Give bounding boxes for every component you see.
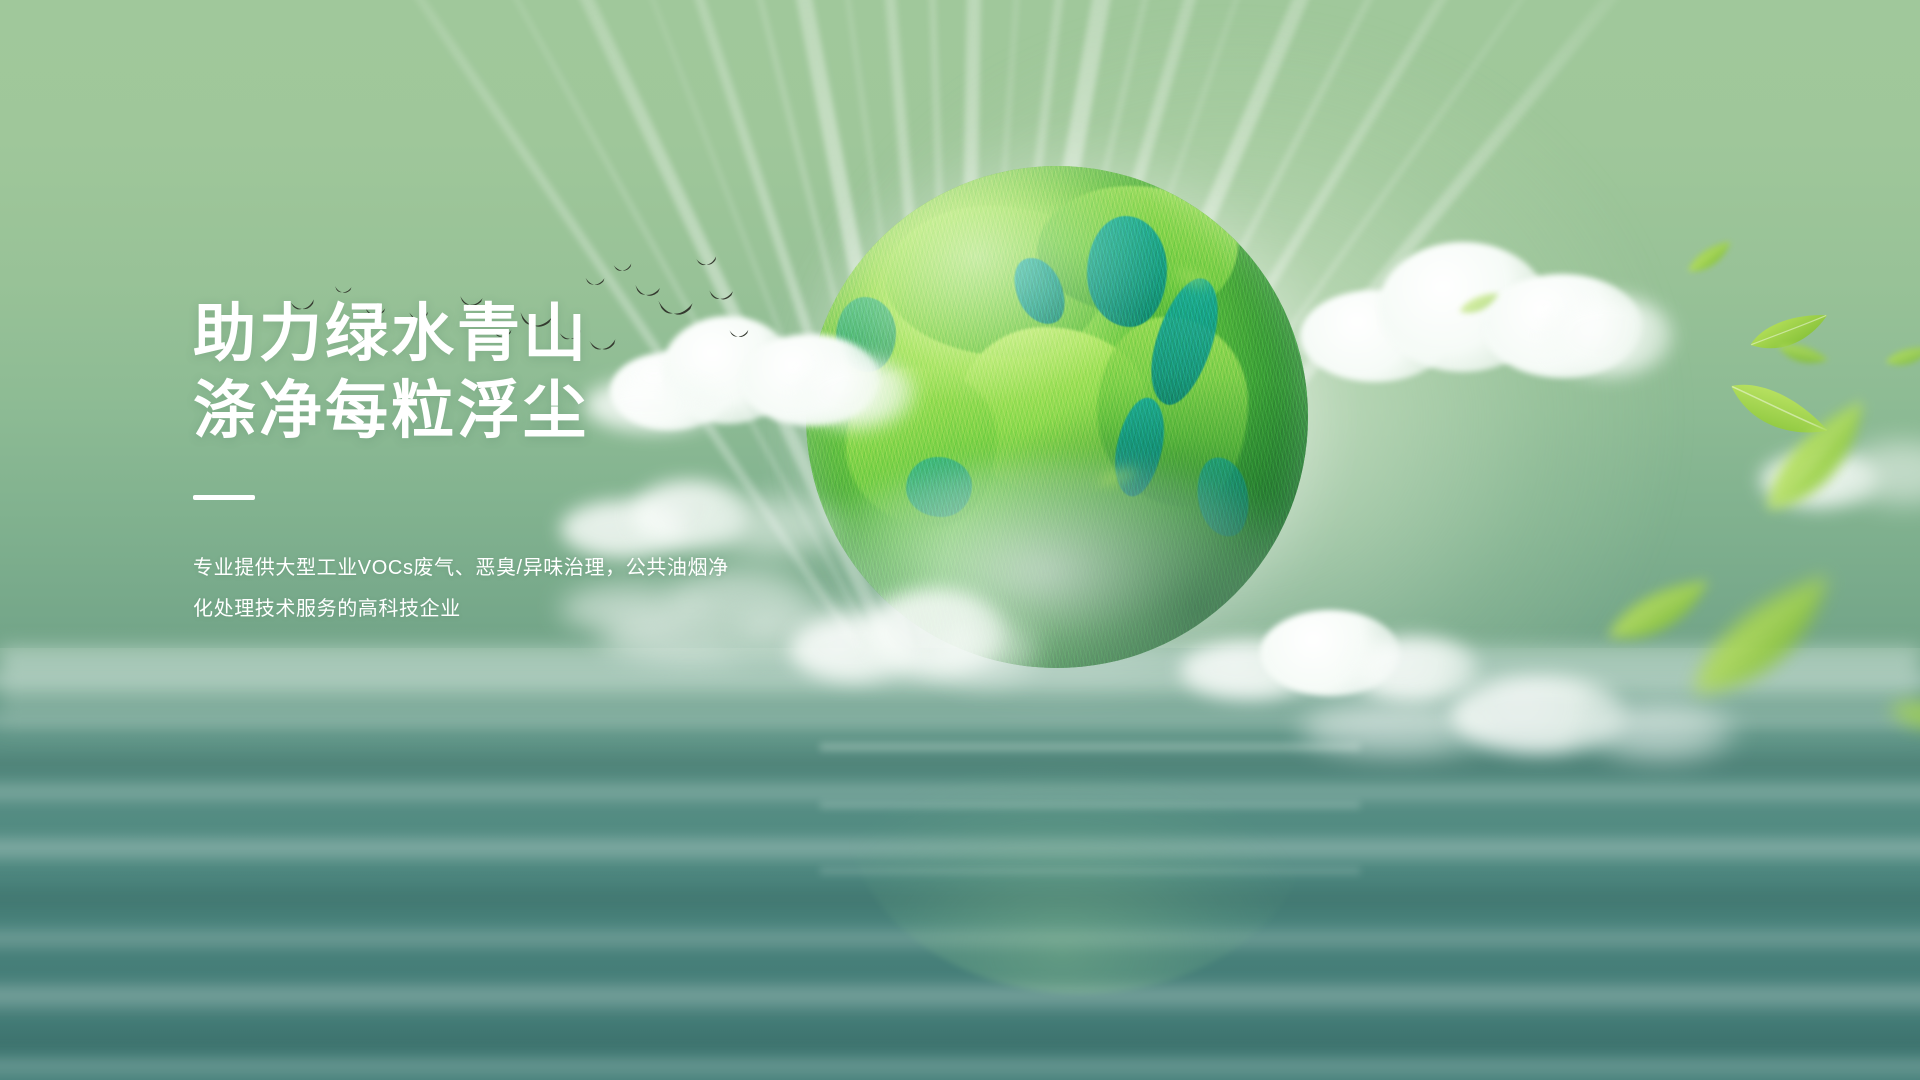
headline-line-2: 涤净每粒浮尘 xyxy=(193,373,893,450)
subtitle-text: 专业提供大型工业VOCs废气、恶臭/异味治理，公共油烟净化处理技术服务的高科技企… xyxy=(193,557,729,620)
hero-copy: 助力绿水青山 涤净每粒浮尘 专业提供大型工业VOCs废气、恶臭/异味治理，公共油… xyxy=(193,296,893,630)
bird-icon xyxy=(695,256,718,271)
bird-icon xyxy=(613,263,633,275)
headline-line-1: 助力绿水青山 xyxy=(193,296,893,373)
bird-icon xyxy=(334,285,353,296)
hero-subtitle: 专业提供大型工业VOCs废气、恶臭/异味治理，公共油烟净化处理技术服务的高科技企… xyxy=(193,548,733,630)
hero-banner: 助力绿水青山 涤净每粒浮尘 专业提供大型工业VOCs废气、恶臭/异味治理，公共油… xyxy=(0,0,1920,1080)
accent-divider xyxy=(193,495,255,500)
bird-icon xyxy=(584,277,605,289)
page-title: 助力绿水青山 涤净每粒浮尘 xyxy=(193,296,893,451)
